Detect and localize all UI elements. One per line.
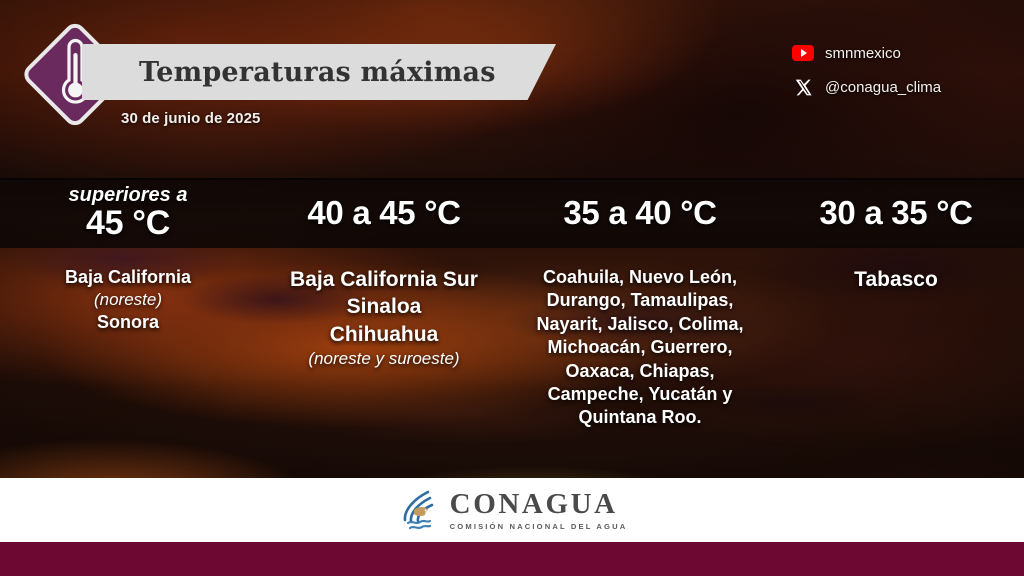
state-list-col-1: Baja California Sur Sinaloa Chihuahua (n… (256, 266, 512, 430)
footer-accent-bar (0, 542, 1024, 576)
forecast-date: 30 de junio de 2025 (121, 110, 260, 127)
logo-wordmark: CONAGUA (450, 490, 628, 519)
x-twitter-icon (792, 78, 814, 97)
state-list-col-2: Coahuila, Nuevo León, Durango, Tamaulipa… (512, 266, 768, 430)
logo-subtitle: COMISIÓN NACIONAL DEL AGUA (450, 523, 628, 531)
range-label-1: 40 a 45 °C (307, 196, 460, 230)
footer-logo-band: CONAGUA COMISIÓN NACIONAL DEL AGUA (0, 478, 1024, 542)
youtube-icon (792, 45, 814, 61)
social-row-x[interactable]: @conagua_clima (792, 72, 992, 102)
state-list-col-3: Tabasco (768, 266, 1024, 430)
range-headers: superiores a 45 °C 40 a 45 °C 35 a 40 °C… (0, 178, 1024, 248)
state-list-col-0: Baja California (noreste) Sonora (0, 266, 256, 430)
title-banner: Temperaturas máximas (82, 44, 556, 100)
state-name: Tabasco (780, 266, 1012, 293)
x-handle: @conagua_clima (825, 79, 941, 96)
range-label-3: 30 a 35 °C (819, 196, 972, 230)
state-name: Sinaloa (268, 293, 500, 320)
social-row-youtube[interactable]: smnmexico (792, 38, 992, 68)
social-accounts: smnmexico @conagua_clima (792, 38, 992, 102)
range-prefix-0: superiores a (69, 185, 188, 205)
state-name: Baja California Sur (268, 266, 500, 293)
range-label-2: 35 a 40 °C (563, 196, 716, 230)
range-header-col-3: 30 a 35 °C (768, 178, 1024, 248)
youtube-handle: smnmexico (825, 45, 901, 62)
state-note: (noreste) (12, 289, 244, 311)
page-title: Temperaturas máximas (139, 57, 496, 88)
state-name: Baja California (12, 266, 244, 289)
infographic-root: Temperaturas máximas 30 de junio de 2025… (0, 0, 1024, 576)
range-header-col-0: superiores a 45 °C (0, 178, 256, 248)
state-name-paragraph: Coahuila, Nuevo León, Durango, Tamaulipa… (524, 266, 756, 430)
conagua-eagle-water-logo (397, 487, 441, 533)
state-note: (noreste y suroeste) (268, 348, 500, 370)
range-header-col-2: 35 a 40 °C (512, 178, 768, 248)
range-header-col-1: 40 a 45 °C (256, 178, 512, 248)
conagua-logo: CONAGUA COMISIÓN NACIONAL DEL AGUA (397, 487, 628, 533)
state-name: Sonora (12, 311, 244, 334)
state-name: Chihuahua (268, 321, 500, 348)
range-label-0: 45 °C (86, 206, 170, 241)
state-lists: Baja California (noreste) Sonora Baja Ca… (0, 266, 1024, 430)
